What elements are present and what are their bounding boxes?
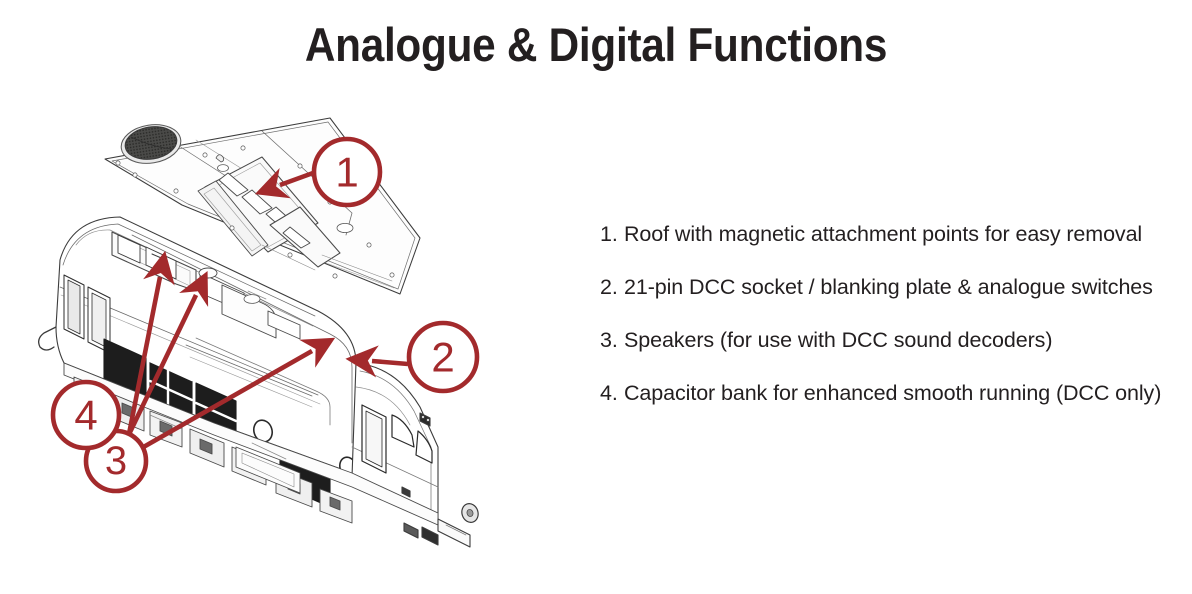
callout-marker-4[interactable]: 4 [53,382,119,448]
legend-item-number: 1. [600,222,624,247]
legend-item: 2. 21-pin DCC socket / blanking plate & … [600,275,1180,328]
legend-item-text: Roof with magnetic attachment points for… [624,222,1180,247]
legend-item-number: 4. [600,381,624,406]
callout-label-2: 2 [431,334,454,381]
callout-label-3: 3 [105,439,127,483]
callout-marker-2[interactable]: 2 [409,323,477,391]
locomotive-diagram: 1 2 3 4 [0,95,520,555]
legend-item-text: Capacitor bank for enhanced smooth runni… [624,381,1180,406]
legend-item: 3. Speakers (for use with DCC sound deco… [600,328,1180,381]
legend-item-number: 2. [600,275,624,300]
legend-item-text: 21-pin DCC socket / blanking plate & ana… [624,275,1180,300]
legend-item: 4. Capacitor bank for enhanced smooth ru… [600,381,1180,434]
callout-marker-1[interactable]: 1 [314,139,380,205]
callout-label-1: 1 [335,149,358,196]
locomotive-figure: 1 2 3 4 [0,95,520,555]
legend-item-number: 3. [600,328,624,353]
legend-item: 1. Roof with magnetic attachment points … [600,222,1180,275]
callout-label-4: 4 [74,392,97,439]
page-title: Analogue & Digital Functions [60,17,1133,72]
legend-item-text: Speakers (for use with DCC sound decoder… [624,328,1180,353]
legend-list: 1. Roof with magnetic attachment points … [600,222,1180,434]
arrow-2 [372,361,408,364]
